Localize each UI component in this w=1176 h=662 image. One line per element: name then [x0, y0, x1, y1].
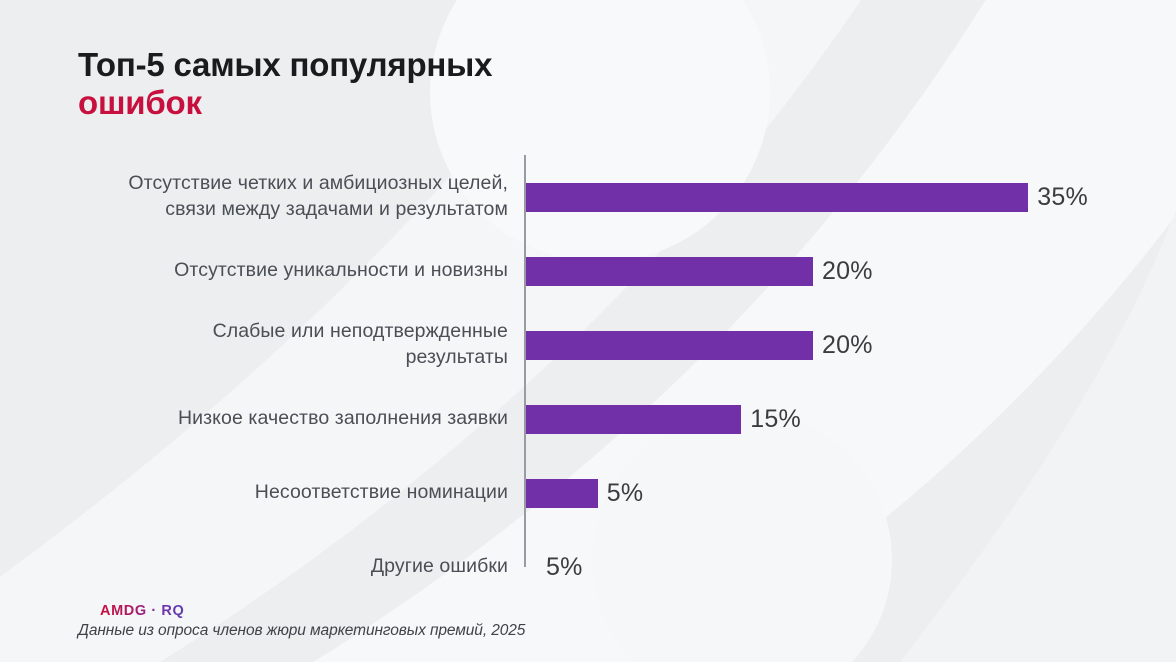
slide-root: Топ-5 самых популярных ошибок Отсутствие…: [0, 0, 1176, 662]
chart-bar-zone: 15%: [526, 382, 801, 456]
chart-row-label: Несоответствие номинации: [38, 480, 508, 506]
chart-row: Слабые или неподтвержденные результаты20…: [0, 308, 1176, 382]
chart-row: Отсутствие четких и амбициозных целей, с…: [0, 160, 1176, 234]
bar-chart: Отсутствие четких и амбициозных целей, с…: [0, 155, 1176, 567]
chart-bar-value: 15%: [750, 405, 801, 434]
chart-row: Несоответствие номинации5%: [0, 456, 1176, 530]
chart-bar: [526, 405, 741, 434]
chart-row-label: Отсутствие четких и амбициозных целей, с…: [38, 171, 508, 222]
chart-row-label: Низкое качество заполнения заявки: [38, 406, 508, 432]
footer: AMDG · RQ Данные из опроса членов жюри м…: [78, 602, 525, 640]
chart-bar-value: 5%: [607, 479, 644, 508]
chart-row-label: Другие ошибки: [38, 554, 508, 580]
chart-bar-value: 20%: [822, 331, 873, 360]
chart-bar-zone: 20%: [526, 234, 873, 308]
chart-row-label: Слабые или неподтвержденные результаты: [38, 319, 508, 370]
chart-bar: [526, 257, 813, 286]
chart-bar: [526, 183, 1028, 212]
chart-bar-zone: 20%: [526, 308, 873, 382]
chart-row: Другие ошибки5%: [0, 530, 1176, 604]
chart-bar-value: 5%: [546, 553, 583, 582]
chart-bar-zone: 5%: [526, 456, 643, 530]
brand-logo: AMDG · RQ: [100, 603, 184, 619]
chart-bar-zone: 35%: [526, 160, 1088, 234]
chart-bar: [526, 331, 813, 360]
page-title: Топ-5 самых популярных ошибок: [78, 46, 492, 123]
chart-bar-value: 20%: [822, 257, 873, 286]
chart-row: Отсутствие уникальности и новизны20%: [0, 234, 1176, 308]
chart-row-label: Отсутствие уникальности и новизны: [38, 258, 508, 284]
source-note: Данные из опроса членов жюри маркетингов…: [78, 622, 525, 640]
title-line-primary: Топ-5 самых популярных: [78, 46, 492, 84]
chart-bar-value: 35%: [1037, 183, 1088, 212]
chart-row: Низкое качество заполнения заявки15%: [0, 382, 1176, 456]
chart-bar-zone: 5%: [526, 530, 583, 604]
title-line-accent: ошибок: [78, 84, 492, 122]
chart-bar: [526, 479, 598, 508]
